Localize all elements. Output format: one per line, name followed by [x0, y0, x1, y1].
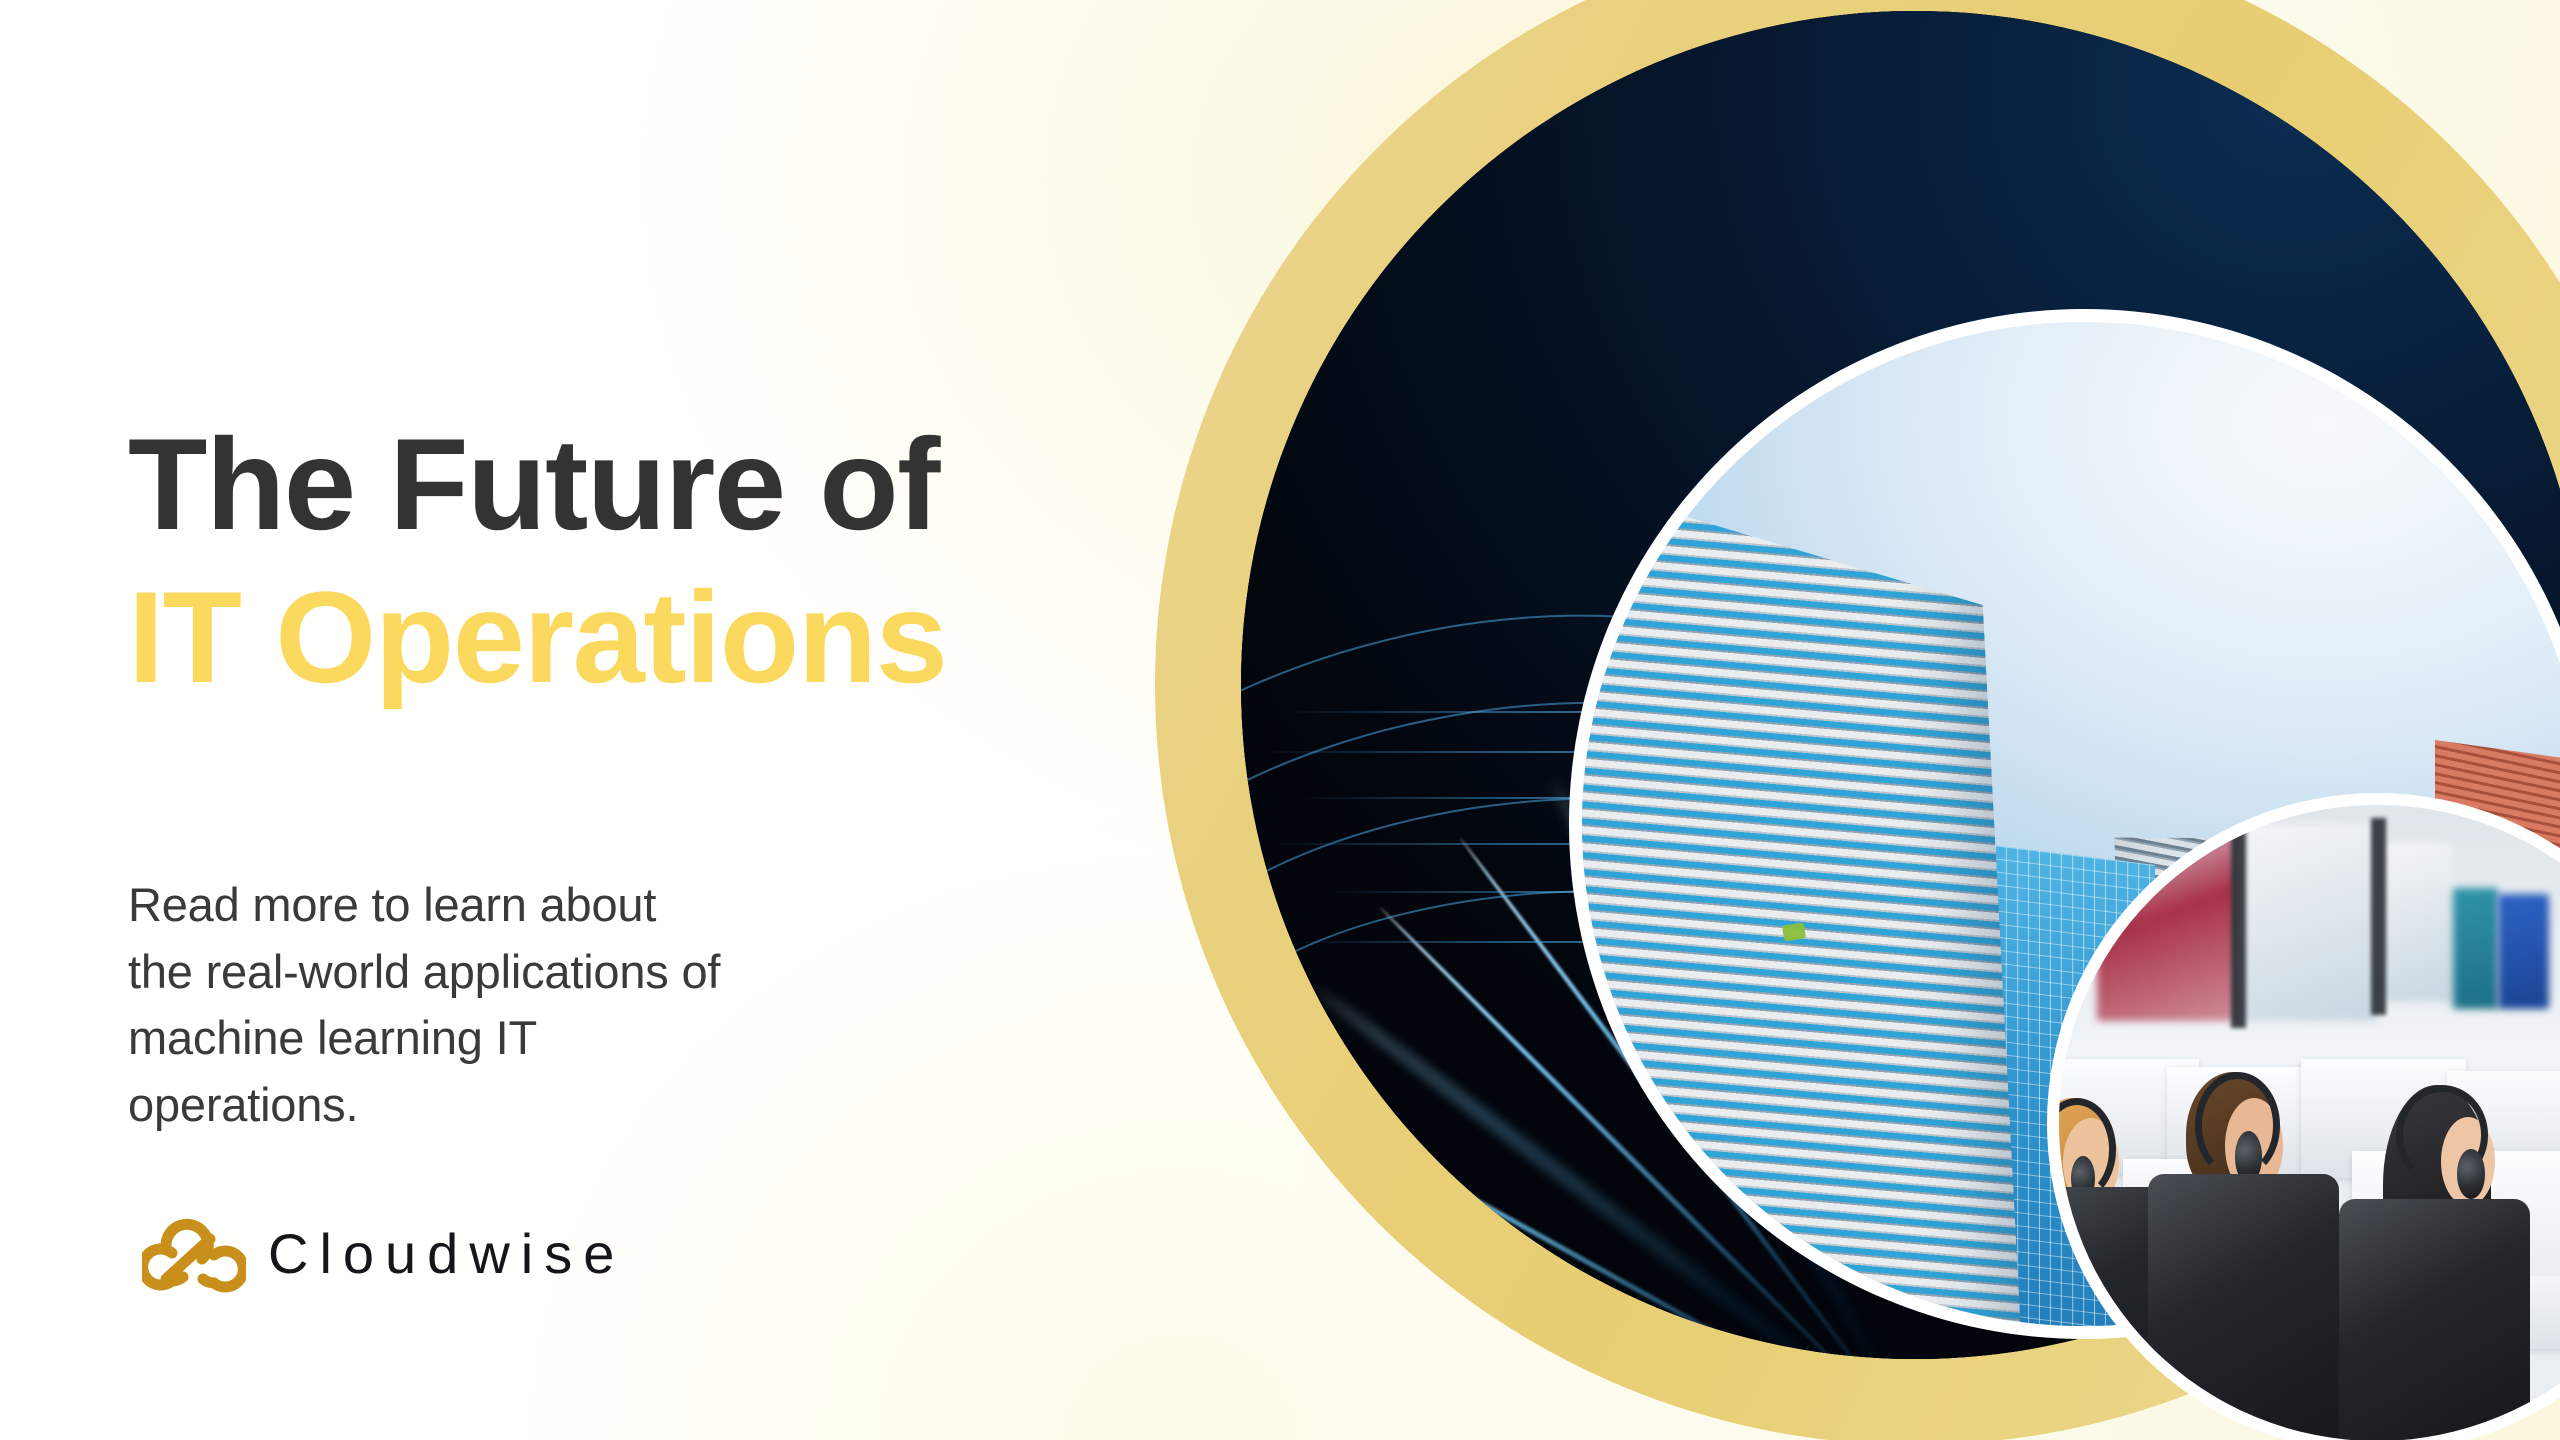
call-center-photo-circle — [2047, 793, 2560, 1440]
wall-screen — [2498, 894, 2549, 1008]
page-title: The Future of IT Operations — [128, 408, 946, 715]
call-center-photo — [2059, 805, 2560, 1440]
hero-text-column: The Future of IT Operations Read more to… — [128, 0, 1178, 1440]
cloudwise-logo[interactable]: Cloudwise — [142, 1205, 625, 1301]
office-chair — [2148, 1174, 2339, 1440]
circle-composition — [1155, 0, 2560, 1440]
cloudwise-wordmark: Cloudwise — [268, 1221, 625, 1286]
headline-line-2: IT Operations — [128, 561, 946, 714]
headset-earcup — [2457, 1149, 2486, 1199]
office-chair — [2339, 1199, 2530, 1440]
hero-subtitle: Read more to learn about the real-world … — [128, 872, 728, 1139]
marketing-banner: The Future of IT Operations Read more to… — [0, 0, 2560, 1440]
wall-screen — [2097, 830, 2237, 1021]
window-pillar — [2231, 818, 2246, 1028]
cloudwise-cloud-infinity-mark — [142, 1205, 246, 1301]
headline-line-1: The Future of — [128, 408, 946, 561]
wall-screen — [2243, 824, 2377, 1021]
wall-screen — [2383, 843, 2453, 1002]
wall-screen — [2453, 888, 2498, 1009]
window-pillar — [2371, 818, 2386, 1015]
